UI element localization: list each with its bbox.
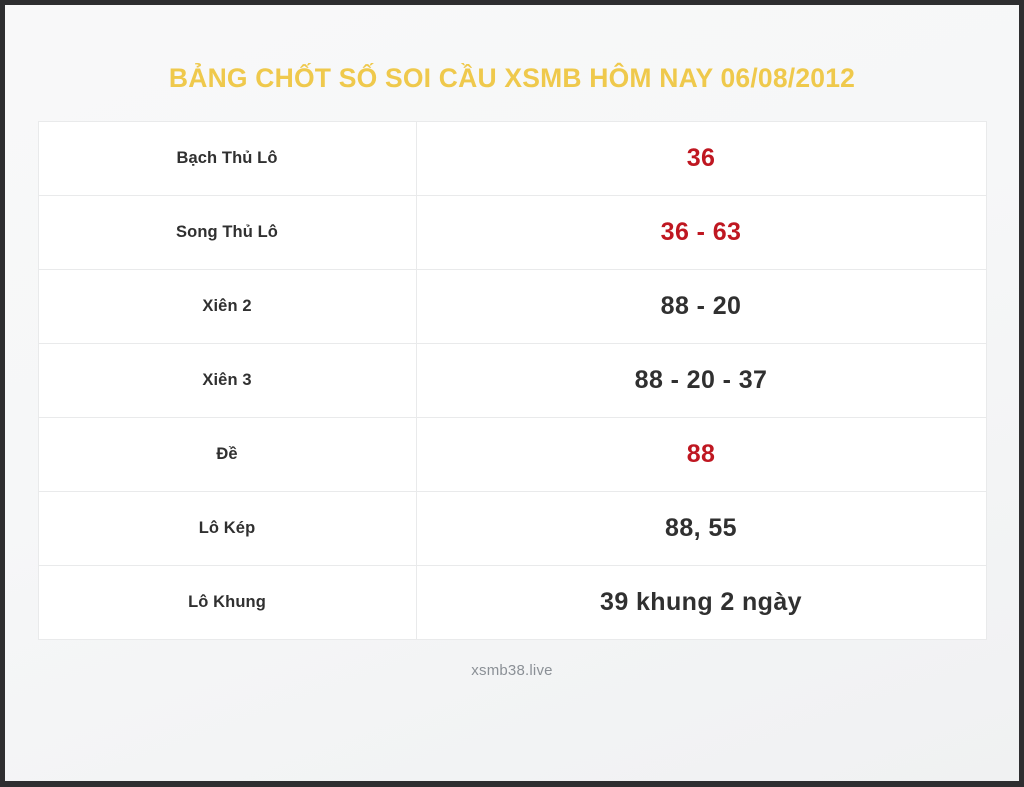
table-row: Xiên 388 - 20 - 37 <box>38 343 986 417</box>
row-label: Lô Khung <box>38 565 416 639</box>
site-credit: xsmb38.live <box>471 662 552 679</box>
row-value: 39 khung 2 ngày <box>416 565 986 639</box>
row-label: Bạch Thủ Lô <box>38 121 416 195</box>
row-value: 88 <box>416 417 986 491</box>
screen-frame: BẢNG CHỐT SỐ SOI CẦU XSMB HÔM NAY 06/08/… <box>0 0 1024 787</box>
row-value: 88 - 20 <box>416 269 986 343</box>
row-label: Xiên 3 <box>38 343 416 417</box>
table-row: Đề88 <box>38 417 986 491</box>
row-value: 36 - 63 <box>416 195 986 269</box>
page-canvas: BẢNG CHỐT SỐ SOI CẦU XSMB HÔM NAY 06/08/… <box>5 5 1019 781</box>
row-label: Song Thủ Lô <box>38 195 416 269</box>
row-value: 88, 55 <box>416 491 986 565</box>
soi-cau-table: Bạch Thủ Lô36Song Thủ Lô36 - 63Xiên 288 … <box>38 121 987 640</box>
table-row: Song Thủ Lô36 - 63 <box>38 195 986 269</box>
table-body: Bạch Thủ Lô36Song Thủ Lô36 - 63Xiên 288 … <box>38 121 986 639</box>
footer: xsmb38.live <box>5 662 1019 680</box>
table-row: Lô Kép88, 55 <box>38 491 986 565</box>
table-row: Xiên 288 - 20 <box>38 269 986 343</box>
row-value: 36 <box>416 121 986 195</box>
page-title: BẢNG CHỐT SỐ SOI CẦU XSMB HÔM NAY 06/08/… <box>169 63 855 95</box>
title-bar: BẢNG CHỐT SỐ SOI CẦU XSMB HÔM NAY 06/08/… <box>5 5 1019 95</box>
row-label: Lô Kép <box>38 491 416 565</box>
table-row: Bạch Thủ Lô36 <box>38 121 986 195</box>
row-label: Đề <box>38 417 416 491</box>
row-value: 88 - 20 - 37 <box>416 343 986 417</box>
table-row: Lô Khung39 khung 2 ngày <box>38 565 986 639</box>
row-label: Xiên 2 <box>38 269 416 343</box>
